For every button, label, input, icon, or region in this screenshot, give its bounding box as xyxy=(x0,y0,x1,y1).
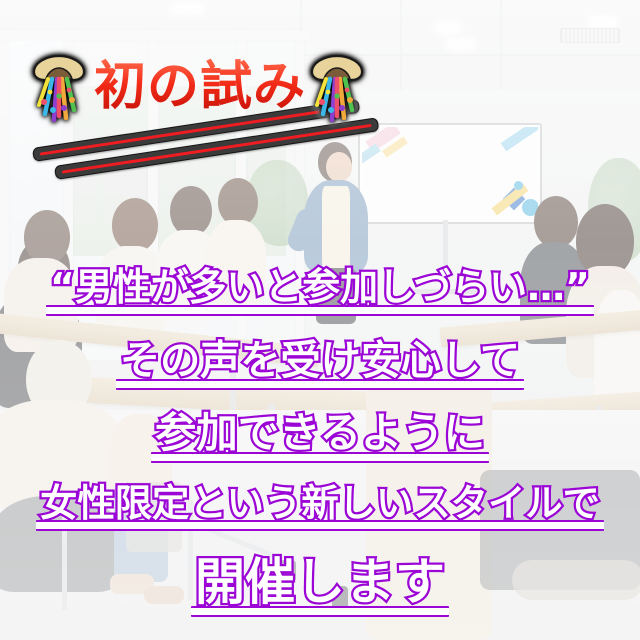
copy-underline xyxy=(36,520,604,531)
copy-line-wrap: 参加できるように xyxy=(155,412,485,455)
copy-line-3: 参加できるように xyxy=(0,412,640,455)
copy-line-wrap: 女性限定という新しいスタイルで xyxy=(40,484,600,523)
copy-underline xyxy=(116,379,524,390)
copy-line-text: 参加できるように xyxy=(155,412,485,455)
copy-line-wrap: 開催します xyxy=(195,556,445,609)
copy-line-text: その声を受け安心して xyxy=(120,340,520,382)
copy-line-5: 開催します xyxy=(0,556,640,609)
copy-line-text: 開催します xyxy=(195,556,445,609)
copy-underline xyxy=(46,305,594,316)
title-badge: 初の試み 初の試み 初の試み xyxy=(26,46,346,128)
page-title: 初の試み xyxy=(94,57,306,117)
copy-line-2: その声を受け安心して xyxy=(0,340,640,382)
title-text-stack: 初の試み 初の試み 初の試み xyxy=(94,61,306,113)
copy-line-wrap: “男性が多いと参加しづらい…” xyxy=(50,268,590,308)
copy-underline xyxy=(151,452,489,463)
kusudama-icon xyxy=(304,50,370,124)
promo-graphic-canvas: 初の試み 初の試み 初の試み xyxy=(0,0,640,640)
kusudama-icon xyxy=(26,50,92,124)
copy-underline xyxy=(191,606,449,617)
copy-line-4: 女性限定という新しいスタイルで xyxy=(0,484,640,523)
copy-line-wrap: その声を受け安心して xyxy=(120,340,520,382)
copy-line-1: “男性が多いと参加しづらい…” xyxy=(0,268,640,308)
copy-line-text: “男性が多いと参加しづらい…” xyxy=(50,268,590,308)
copy-line-text: 女性限定という新しいスタイルで xyxy=(40,484,600,523)
